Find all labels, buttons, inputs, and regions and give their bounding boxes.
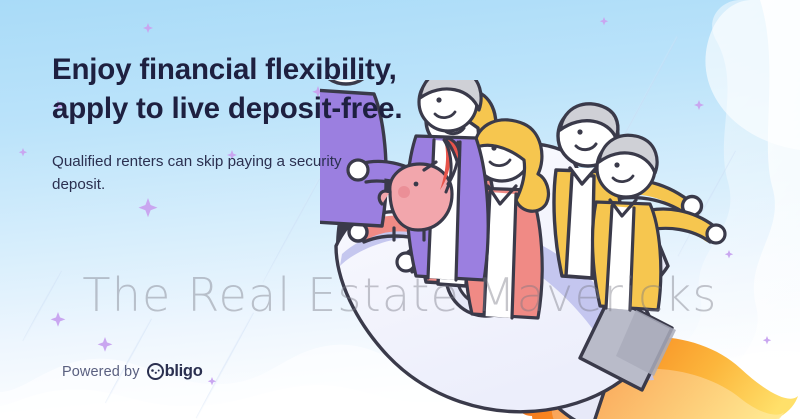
- cloud-top-right: [705, 0, 800, 150]
- watermark-text: The Real Estate Mavericks: [0, 268, 800, 322]
- cloud-right: [640, 0, 800, 419]
- obligo-wordmark: bligo: [165, 363, 203, 380]
- promo-banner: Enjoy financial flexibility, apply to li…: [0, 0, 800, 419]
- obligo-o-icon: [147, 363, 164, 380]
- rocket-fin-lower: [534, 350, 610, 419]
- rocket-porthole: [446, 236, 526, 316]
- rider-yellow-front: [593, 135, 725, 310]
- rocket-fin-upper: [588, 222, 668, 306]
- copy-block: Enjoy financial flexibility, apply to li…: [52, 50, 452, 196]
- obligo-mark-porthole: [470, 268, 503, 283]
- headline-line-1: Enjoy financial flexibility,: [52, 50, 452, 89]
- rider-yellow: [554, 104, 702, 280]
- powered-by-block: Powered by bligo: [62, 363, 202, 380]
- obligo-logo[interactable]: bligo: [147, 363, 203, 380]
- rocket-flame: [514, 336, 798, 419]
- rocket-nozzle: [580, 296, 676, 390]
- subheading: Qualified renters can skip paying a secu…: [52, 150, 352, 196]
- headline-line-2: apply to live deposit-free.: [52, 89, 452, 128]
- powered-by-label: Powered by: [62, 364, 140, 380]
